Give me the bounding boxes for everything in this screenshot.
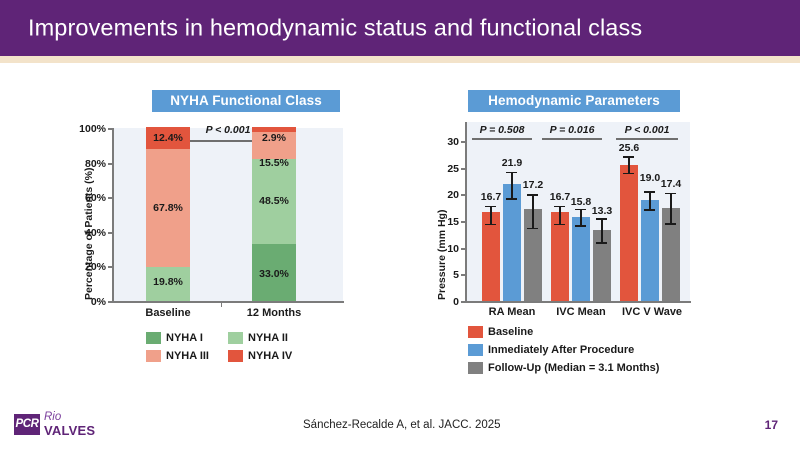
pcr-rio-valves-logo: PCR Rio VALVES — [14, 409, 110, 439]
errorbar-cap-bottom-ivc-mean-immediate — [575, 225, 586, 227]
bar-ivc-v-wave-immediate — [641, 200, 659, 301]
y-tick-hemo-15 — [461, 221, 465, 223]
legend-swatch-nyha-3 — [146, 350, 161, 362]
bar-ivc-v-wave-baseline — [620, 165, 638, 302]
bar-ra-mean-immediate — [503, 184, 521, 301]
x-axis-label-baseline: Baseline — [134, 307, 202, 319]
errorbar-cap-bottom-ivc-v-wave-followup — [665, 223, 676, 225]
errorbar-cap-bottom-ra-mean-baseline — [485, 224, 496, 226]
legend-label-nyha-3: NYHA III — [166, 350, 209, 362]
legend-label-nyha-1: NYHA I — [166, 332, 203, 344]
errorbar-cap-top-ivc-v-wave-followup — [665, 193, 676, 195]
x-axis-line-nyha — [112, 301, 344, 303]
p-value-ivc-mean: P = 0.016 — [537, 124, 607, 136]
y-tick-label-nyha-40: 40% — [58, 227, 106, 239]
errorbar-ivc-v-wave-followup — [670, 193, 672, 223]
y-tick-label-hemo-20: 20 — [427, 189, 459, 201]
errorbar-ivc-v-wave-baseline — [628, 156, 630, 173]
page-title: Improvements in hemodynamic status and f… — [28, 15, 642, 42]
value-label-ra-mean-followup: 17.2 — [513, 179, 553, 191]
errorbar-ra-mean-baseline — [490, 206, 492, 224]
y-tick-hemo-10 — [461, 248, 465, 250]
value-label-ivc-v-wave-followup: 17.4 — [651, 178, 691, 190]
legend-swatch-baseline — [468, 326, 483, 338]
stack-label-baseline-nyha2: 19.8% — [140, 276, 196, 288]
y-tick-hemo-20 — [461, 194, 465, 196]
errorbar-cap-top-ivc-v-wave-immediate — [644, 191, 655, 193]
legend-label-followup: Follow-Up (Median = 3.1 Months) — [488, 362, 659, 374]
y-tick-label-hemo-30: 30 — [427, 136, 459, 148]
legend-swatch-followup — [468, 362, 483, 374]
stack-label-12m-nyha1: 33.0% — [246, 268, 302, 280]
legend-label-nyha-4: NYHA IV — [248, 350, 292, 362]
errorbar-cap-bottom-ivc-v-wave-immediate — [644, 209, 655, 211]
x-axis-label-ivc-mean: IVC Mean — [547, 306, 615, 318]
x-axis-line-hemo — [465, 301, 691, 303]
chart-title-hemo: Hemodynamic Parameters — [468, 90, 680, 112]
slide-header-band: Improvements in hemodynamic status and f… — [0, 0, 800, 56]
citation-text: Sánchez-Recalde A, et al. JACC. 2025 — [303, 418, 533, 433]
errorbar-cap-bottom-ivc-mean-baseline — [554, 224, 565, 226]
p-value-bracket-ivc-v-wave — [616, 138, 678, 140]
p-value-bracket-ivc-mean — [542, 138, 602, 140]
y-tick-hemo-30 — [461, 141, 465, 143]
y-tick-label-nyha-80: 80% — [58, 158, 106, 170]
y-tick-label-hemo-25: 25 — [427, 163, 459, 175]
errorbar-cap-top-ra-mean-immediate — [506, 172, 517, 174]
y-tick-nyha-0 — [108, 301, 112, 303]
y-axis-line-hemo — [465, 122, 467, 302]
errorbar-cap-top-ivc-v-wave-baseline — [623, 156, 634, 158]
y-tick-hemo-25 — [461, 168, 465, 170]
y-tick-label-nyha-20: 20% — [58, 261, 106, 273]
y-axis-line-nyha — [112, 128, 114, 302]
y-tick-hemo-5 — [461, 274, 465, 276]
stack-label-12m-nyha4: 2.9% — [246, 132, 302, 144]
page-number: 17 — [765, 418, 778, 432]
chart-title-nyha: NYHA Functional Class — [152, 90, 340, 112]
value-label-ivc-mean-followup: 13.3 — [582, 205, 622, 217]
errorbar-ivc-mean-baseline — [559, 206, 561, 224]
p-value-ra-mean: P = 0.508 — [467, 124, 537, 136]
errorbar-ra-mean-followup — [532, 194, 534, 227]
y-tick-label-hemo-5: 5 — [427, 269, 459, 281]
y-tick-nyha-60 — [108, 197, 112, 199]
stack-label-baseline-nyha4: 12.4% — [140, 132, 196, 144]
logo-rio-text: Rio — [44, 411, 61, 423]
errorbar-cap-bottom-ra-mean-immediate — [506, 198, 517, 200]
bar-ivc-mean-immediate — [572, 217, 590, 301]
x-axis-label-ivc-v-wave: IVC V Wave — [615, 306, 689, 318]
y-tick-label-hemo-10: 10 — [427, 243, 459, 255]
errorbar-ivc-mean-followup — [601, 218, 603, 242]
stack-label-baseline-nyha3: 67.8% — [140, 202, 196, 214]
y-tick-label-nyha-60: 60% — [58, 192, 106, 204]
legend-swatch-nyha-4 — [228, 350, 243, 362]
errorbar-ivc-v-wave-immediate — [649, 191, 651, 209]
legend-swatch-immediate — [468, 344, 483, 356]
x-tick-nyha-separator — [221, 301, 222, 307]
header-accent-strip — [0, 56, 800, 63]
y-tick-label-nyha-0: 0% — [58, 296, 106, 308]
y-tick-label-hemo-15: 15 — [427, 216, 459, 228]
stack-label-12m-nyha3: 15.5% — [246, 157, 302, 169]
legend-label-immediate: Inmediately After Procedure — [488, 344, 634, 356]
y-tick-label-hemo-0: 0 — [427, 296, 459, 308]
value-label-ivc-v-wave-baseline: 25.6 — [609, 142, 649, 154]
errorbar-cap-top-ra-mean-baseline — [485, 206, 496, 208]
y-tick-nyha-100 — [108, 128, 112, 130]
x-axis-label-ra-mean: RA Mean — [479, 306, 545, 318]
errorbar-cap-top-ra-mean-followup — [527, 194, 538, 196]
y-tick-label-nyha-100: 100% — [58, 123, 106, 135]
y-tick-nyha-40 — [108, 232, 112, 234]
p-value-bracket-ra-mean — [472, 138, 532, 140]
logo-valves-text: VALVES — [44, 423, 95, 438]
legend-swatch-nyha-1 — [146, 332, 161, 344]
y-tick-hemo-0 — [461, 301, 465, 303]
p-value-ivc-v-wave: P < 0.001 — [611, 124, 683, 136]
stack-label-12m-nyha2: 48.5% — [246, 195, 302, 207]
errorbar-cap-top-ivc-mean-followup — [596, 218, 607, 220]
y-tick-nyha-80 — [108, 163, 112, 165]
x-axis-label-12-months: 12 Months — [238, 307, 310, 319]
pcr-logo-mark: PCR — [14, 414, 40, 435]
errorbar-cap-bottom-ivc-mean-followup — [596, 242, 607, 244]
legend-label-baseline: Baseline — [488, 326, 533, 338]
legend-label-nyha-2: NYHA II — [248, 332, 288, 344]
y-tick-nyha-20 — [108, 266, 112, 268]
legend-swatch-nyha-2 — [228, 332, 243, 344]
errorbar-cap-bottom-ra-mean-followup — [527, 228, 538, 230]
value-label-ra-mean-immediate: 21.9 — [492, 157, 532, 169]
